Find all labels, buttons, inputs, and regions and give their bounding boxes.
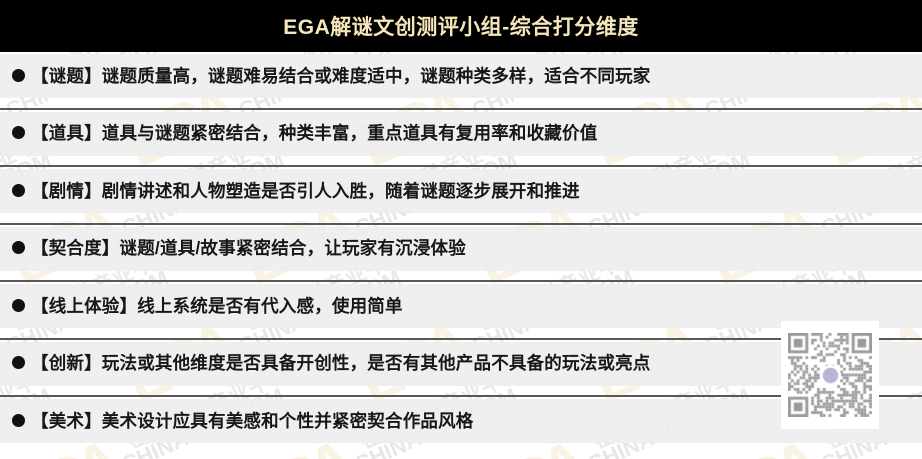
qr-code[interactable] [788, 333, 872, 417]
criteria-row-content: 【道具】道具与谜题紧密结合，种类丰富，重点道具有复用率和收藏价值 [0, 110, 922, 156]
criteria-text: 【道具】道具与谜题紧密结合，种类丰富，重点道具有复用率和收藏价值 [31, 120, 597, 145]
bullet-icon [12, 184, 25, 197]
criteria-row-content: 【契合度】谜题/道具/故事紧密结合，让玩家有沉浸体验 [0, 225, 922, 271]
bullet-icon [12, 241, 25, 254]
bullet-icon [12, 414, 25, 427]
criteria-row: 【剧情】剧情讲述和人物塑造是否引人入胜，随着谜题逐步展开和推进 [0, 167, 922, 225]
qr-center-logo-icon [820, 365, 841, 386]
qr-code-panel[interactable] [781, 321, 879, 429]
bullet-icon [12, 69, 25, 82]
criteria-text: 【线上体验】线上系统是否有代入感，使用简单 [31, 293, 403, 318]
qr-center-logo-inner-icon [823, 368, 838, 383]
criteria-text: 【创新】玩法或其他维度是否具备开创性，是否有其他产品不具备的玩法或亮点 [31, 350, 651, 375]
header-bar: EGA解谜文创测评小组-综合打分维度 [0, 0, 922, 52]
bullet-icon [12, 356, 25, 369]
criteria-row-content: 【剧情】剧情讲述和人物塑造是否引人入胜，随着谜题逐步展开和推进 [0, 167, 922, 213]
criteria-text: 【契合度】谜题/道具/故事紧密结合，让玩家有沉浸体验 [31, 235, 466, 260]
screenshot-root: EGA密室逃脱产业平台CHINAEGA.COMEGA密室逃脱产业平台CHINAE… [0, 0, 922, 459]
criteria-text: 【剧情】剧情讲述和人物塑造是否引人入胜，随着谜题逐步展开和推进 [31, 178, 580, 203]
criteria-row-content: 【谜题】谜题质量高，谜题难易结合或难度适中，谜题种类多样，适合不同玩家 [0, 52, 922, 98]
bullet-icon [12, 299, 25, 312]
criteria-text: 【谜题】谜题质量高，谜题难易结合或难度适中，谜题种类多样，适合不同玩家 [31, 63, 651, 88]
criteria-row: 【谜题】谜题质量高，谜题难易结合或难度适中，谜题种类多样，适合不同玩家 [0, 52, 922, 110]
criteria-text: 【美术】美术设计应具有美感和个性并紧密契合作品风格 [31, 408, 474, 433]
bullet-icon [12, 126, 25, 139]
page-title: EGA解谜文创测评小组-综合打分维度 [283, 11, 639, 41]
criteria-row: 【契合度】谜题/道具/故事紧密结合，让玩家有沉浸体验 [0, 225, 922, 283]
criteria-row: 【道具】道具与谜题紧密结合，种类丰富，重点道具有复用率和收藏价值 [0, 110, 922, 168]
